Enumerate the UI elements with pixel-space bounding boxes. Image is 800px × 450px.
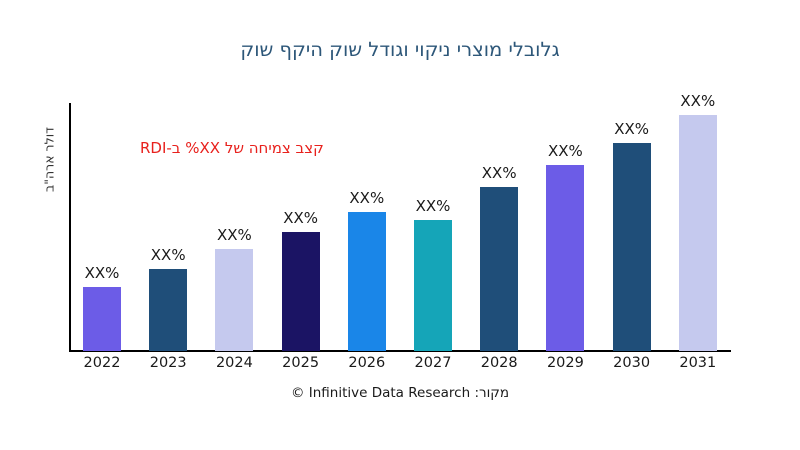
x-axis-tick-labels: 2022202320242025202620272028202920302031 [69,355,769,379]
bar-value-label: XX% [349,189,384,207]
bar-value-label: XX% [217,226,252,244]
x-tick-label: 2029 [532,355,598,371]
x-tick-label: 2022 [69,355,135,371]
bar-rect [414,220,452,351]
bar-rect [613,143,651,351]
bar-rect [282,232,320,351]
bar-value-label: XX% [482,164,517,182]
x-tick-label: 2027 [400,355,466,371]
bar-value-label: XX% [614,120,649,138]
bar-value-label: XX% [283,209,318,227]
bar-item: XX% [599,103,665,351]
bar-value-label: XX% [548,142,583,160]
bar-rect [215,249,253,351]
bar-item: XX% [466,103,532,351]
x-tick-label: 2030 [599,355,665,371]
bar-rect [348,212,386,351]
bar-rect [679,115,717,351]
bar-item: XX% [69,103,135,351]
bar-rect [149,269,187,351]
x-tick-label: 2024 [201,355,267,371]
x-tick-label: 2023 [135,355,201,371]
bar-item: XX% [532,103,598,351]
chart-container: גלובלי מוצרי ניקוי וגודל שוק היקף שוק דו… [0,0,800,450]
growth-rate-annotation: קצב צמיחה של XX% ב-IDR [140,139,324,157]
bar-rect [546,165,584,351]
bar-item: XX% [400,103,466,351]
bar-item: XX% [665,103,731,351]
source-caption: מקור: Infinitive Data Research © [0,385,800,401]
bar-value-label: XX% [85,264,120,282]
bar-value-label: XX% [680,92,715,110]
bar-rect [480,187,518,351]
x-tick-label: 2026 [334,355,400,371]
y-axis-label: דולר ארה"ב [42,95,57,225]
bar-value-label: XX% [151,246,186,264]
bar-rect [83,287,121,351]
bar-value-label: XX% [416,197,451,215]
chart-title: גלובלי מוצרי ניקוי וגודל שוק היקף שוק [0,38,800,61]
x-tick-label: 2028 [466,355,532,371]
x-tick-label: 2025 [268,355,334,371]
x-tick-label: 2031 [665,355,731,371]
bar-item: XX% [334,103,400,351]
